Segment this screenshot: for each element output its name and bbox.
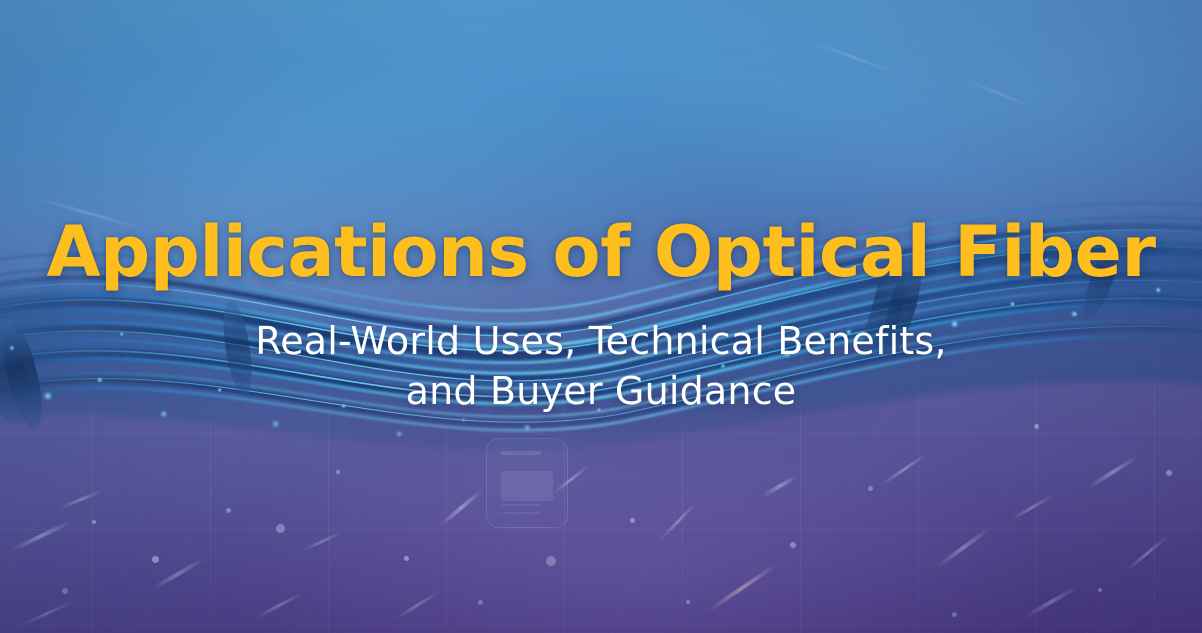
page-subtitle: Real-World Uses, Technical Benefits, and… <box>255 317 946 416</box>
banner-text-block: Applications of Optical Fiber Real-World… <box>0 0 1202 633</box>
page-subtitle-line-1: Real-World Uses, Technical Benefits, <box>255 319 946 363</box>
page-title: Applications of Optical Fiber <box>46 217 1155 287</box>
optical-fiber-hero-banner: Applications of Optical Fiber Real-World… <box>0 0 1202 633</box>
page-subtitle-line-2: and Buyer Guidance <box>255 367 946 416</box>
